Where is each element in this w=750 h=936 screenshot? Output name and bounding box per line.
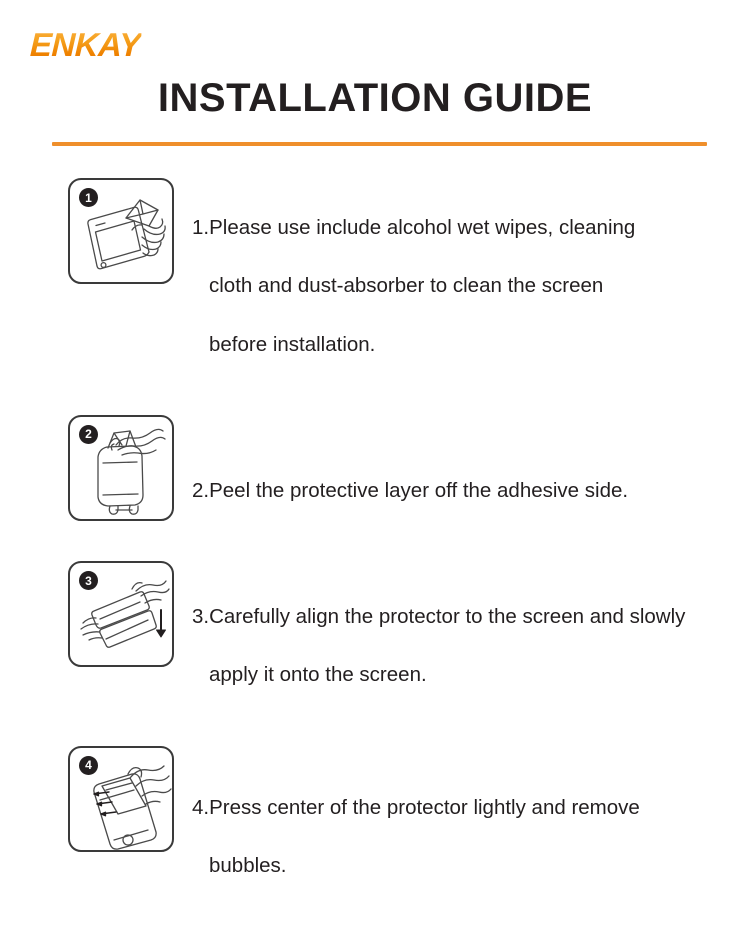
step-2-number-badge: 2	[79, 425, 98, 444]
step-1-line-1: 1.Please use include alcohol wet wipes, …	[192, 213, 706, 242]
title-divider	[52, 142, 707, 146]
step-1-line-2: cloth and dust-absorber to clean the scr…	[192, 271, 706, 300]
step-3-text: 3.Carefully align the protector to the s…	[174, 561, 750, 719]
step-4-illustration: 4	[68, 746, 174, 852]
step-4-line-1: 4.Press center of the protector lightly …	[192, 793, 724, 822]
step-1-number-badge: 1	[79, 188, 98, 207]
step-item: 3	[0, 561, 750, 719]
step-3-line-2: apply it onto the screen.	[192, 660, 732, 689]
step-2-line-1: 2.Peel the protective layer off the adhe…	[192, 476, 706, 505]
step-3-illustration: 3	[68, 561, 174, 667]
brand-logo: ENKAY	[30, 27, 141, 61]
step-4-number-badge: 4	[79, 756, 98, 775]
step-item: 2	[0, 415, 750, 534]
installation-guide-page: ENKAY INSTALLATION GUIDE 1	[0, 0, 750, 750]
step-item: 4	[0, 746, 750, 910]
step-4-text: 4.Press center of the protector lightly …	[174, 746, 750, 910]
step-item: 1	[0, 178, 750, 388]
brand-wordmark: ENKAY	[29, 28, 141, 61]
step-2-illustration: 2	[68, 415, 174, 521]
step-4-line-2: bubbles.	[192, 851, 724, 880]
step-3-number-badge: 3	[79, 571, 98, 590]
step-1-line-3: before installation.	[192, 330, 706, 359]
page-title: INSTALLATION GUIDE	[0, 76, 750, 121]
steps-list: 1	[0, 178, 750, 936]
step-3-line-1: 3.Carefully align the protector to the s…	[192, 602, 732, 631]
step-1-text: 1.Please use include alcohol wet wipes, …	[174, 178, 750, 388]
step-2-text: 2.Peel the protective layer off the adhe…	[174, 415, 750, 534]
step-1-illustration: 1	[68, 178, 174, 284]
